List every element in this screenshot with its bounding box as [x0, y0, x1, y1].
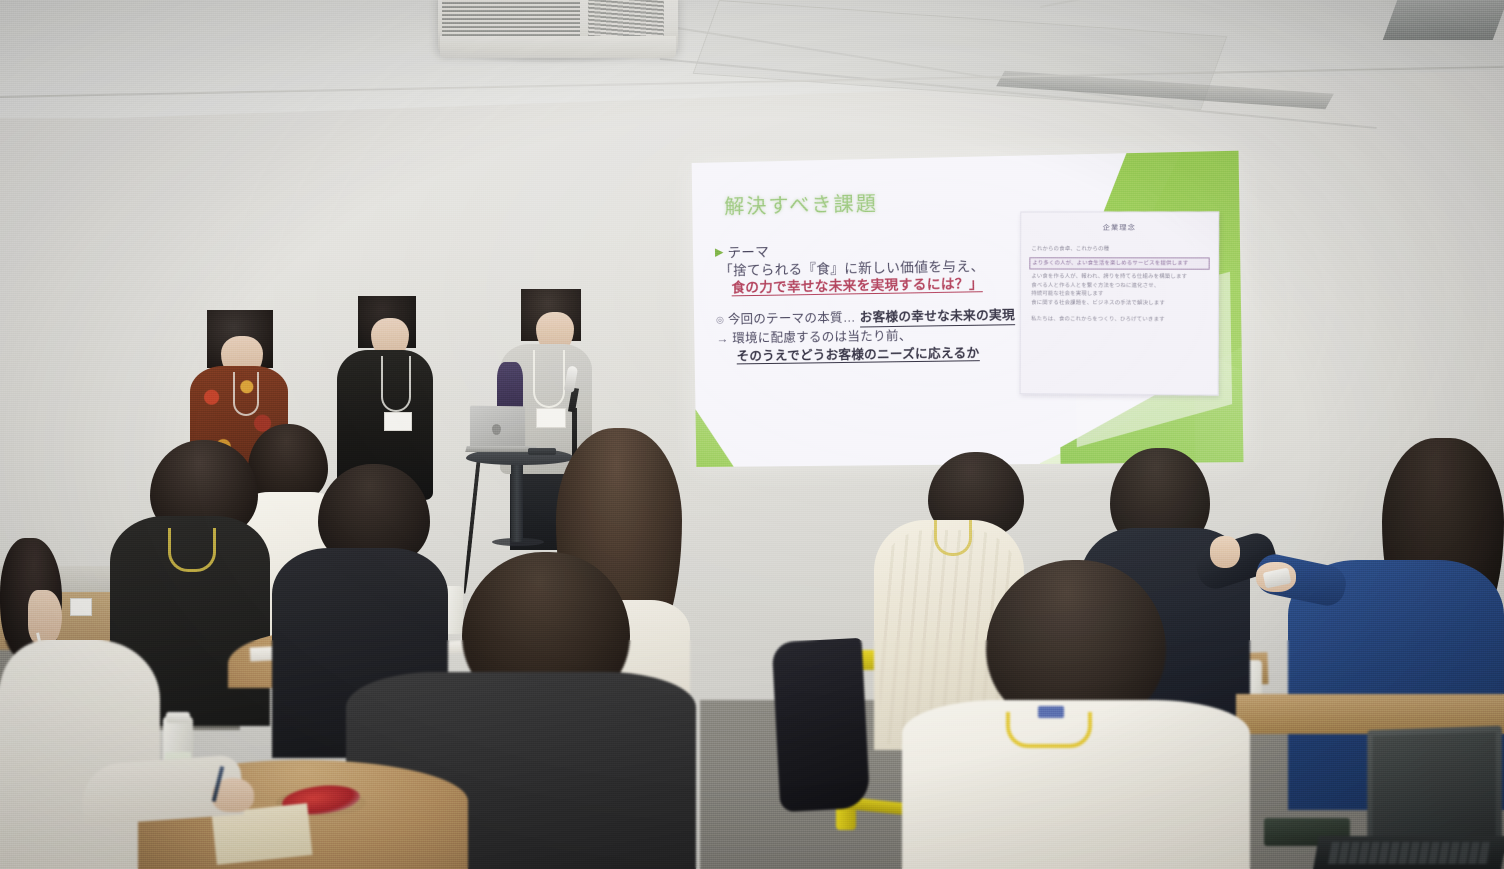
bottle-cap — [166, 712, 190, 723]
apple-logo-icon — [492, 424, 501, 435]
slide-line-environment-1: 環境に配慮するのは当たり前、 — [732, 327, 912, 346]
attendee-white-hoodie-hair — [248, 424, 328, 502]
arrow-marker-icon: → — [716, 330, 728, 346]
name-badge — [1038, 706, 1064, 718]
inset-title: 企業理念 — [1021, 223, 1218, 233]
attendee-white-shirt-lanyard-hair — [986, 560, 1166, 720]
attendee-hand — [1210, 536, 1240, 568]
lanyard — [233, 372, 259, 416]
name-badge — [384, 412, 412, 431]
inset-line: 食べる人と作る人とを繋ぐ方法をつねに進化させ、 — [1031, 281, 1209, 290]
attendee-taking-notes-face — [28, 590, 62, 646]
slide-line-essence-emphasis: お客様の幸せな未来の実現 — [860, 307, 1016, 327]
name-badge — [536, 408, 566, 428]
lanyard — [168, 528, 216, 572]
attendee-taking-notes — [0, 640, 160, 869]
slide-title: 解決すべき課題 — [724, 187, 878, 219]
black-coat-on-chair — [772, 638, 871, 812]
slide-green-shape — [692, 348, 755, 467]
inset-line: これからの食卓、これからの種 — [1031, 245, 1209, 254]
presentation-room-photo: 解決すべき課題 ▶ テーマ 「捨てられる『食』に新しい価値を与え、 食の力で幸せ… — [0, 0, 1504, 869]
triangle-marker-icon: ▶ — [715, 244, 724, 261]
projected-slide: 解決すべき課題 ▶ テーマ 「捨てられる『食』に新しい価値を与え、 食の力で幸せ… — [692, 151, 1244, 467]
slide-line-environment-2-wrap: そのうえでどうお客様のニーズに応えるか — [716, 343, 1051, 366]
inset-line: 私たちは、食のこれからをつくり、ひろげていきます — [1031, 315, 1209, 324]
laptop-screen-bezel — [1373, 732, 1496, 840]
slide-line-essence: 今回のテーマの本質… — [728, 309, 856, 328]
inset-line: よい食を作る人が、報われ、誇りを持てる仕組みを構築します — [1031, 273, 1209, 282]
air-conditioner-body — [440, 36, 676, 58]
ceiling-vent — [1383, 0, 1504, 40]
laptop-keyboard — [1328, 842, 1492, 864]
inset-body: これからの食卓、これからの種 より多くの人が、よい食生活を楽しめるサービスを提供… — [1031, 245, 1210, 324]
wall-outlet — [70, 598, 92, 616]
corporate-philosophy-inset: 企業理念 これからの食卓、これからの種 より多くの人が、よい食生活を楽しめるサー… — [1020, 211, 1220, 395]
lanyard — [381, 356, 411, 412]
podium-stem — [511, 458, 523, 542]
macbook-base — [465, 446, 536, 452]
inset-line: 食に関する社会課題を、ビジネスの手法で解決します — [1031, 299, 1209, 308]
slide-line-theme-label: テーマ — [727, 244, 769, 262]
inset-line-highlighted: より多くの人が、よい食生活を楽しめるサービスを提供します — [1029, 257, 1209, 270]
circle-marker-icon: ◎ — [716, 312, 724, 328]
slide-line-environment-2: そのうえでどうお客様のニーズに応えるか — [737, 346, 980, 364]
slide-body: ▶ テーマ 「捨てられる『食』に新しい価値を与え、 食の力で幸せな未来を実現する… — [715, 238, 1052, 365]
lanyard — [934, 520, 972, 556]
presentation-clicker — [528, 448, 556, 455]
slide-line-theme-quote-2: 食の力で幸せな未来を実現するには？」 — [731, 276, 983, 296]
lanyard — [533, 350, 565, 408]
air-conditioner-grille-icon — [442, 0, 580, 38]
